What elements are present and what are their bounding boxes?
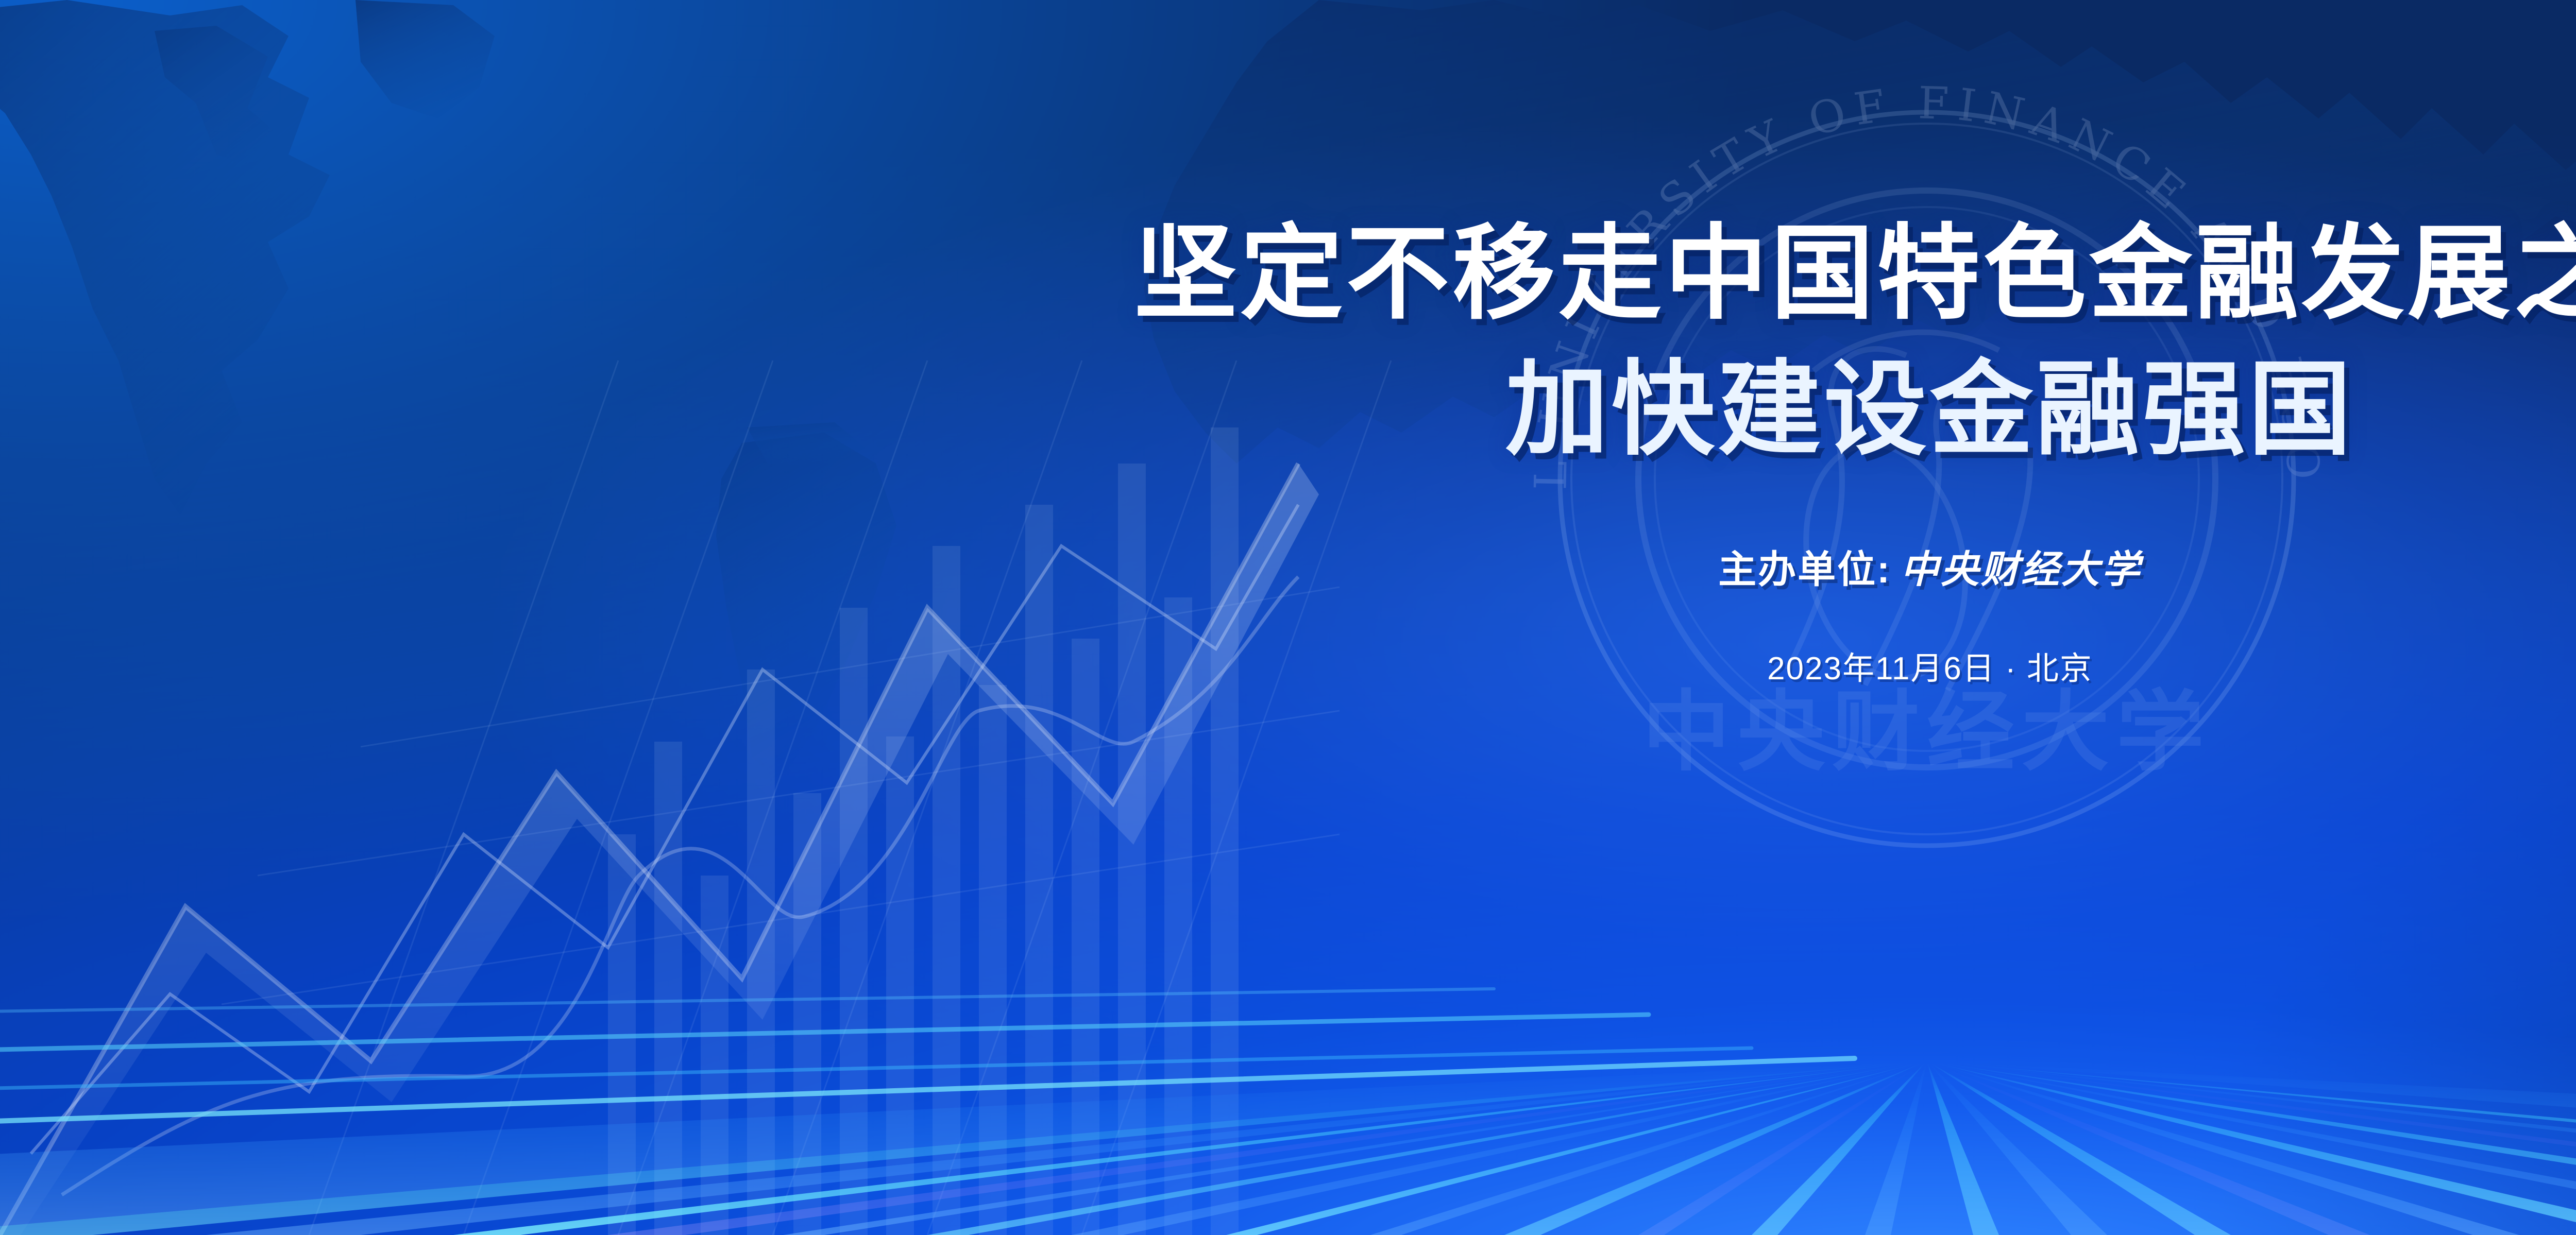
conference-banner: CENTRAL UNIVERSITY OF FINANCE AND ECONOM…: [0, 0, 2576, 1235]
bottom-light-glow: [0, 0, 2576, 1235]
